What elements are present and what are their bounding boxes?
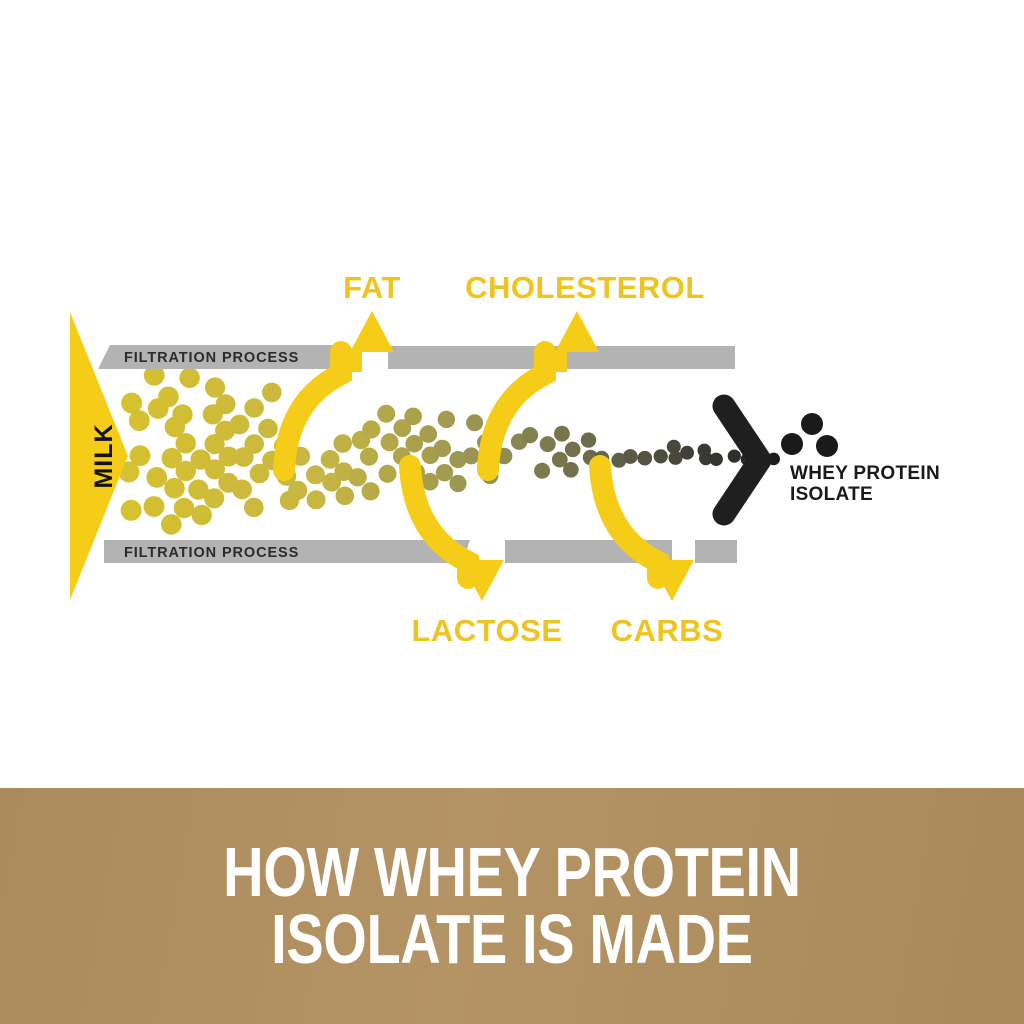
particle-dot	[360, 448, 378, 466]
particle-dot	[581, 432, 596, 447]
output-dot	[801, 413, 823, 435]
lactose-label: LACTOSE	[411, 613, 562, 648]
particle-dot	[710, 453, 723, 466]
particle-dot	[534, 463, 550, 479]
particle-dot	[654, 449, 668, 463]
cholesterol-label: CHOLESTEROL	[465, 270, 705, 305]
particle-dot	[449, 475, 466, 492]
particle-dot	[174, 498, 194, 518]
filtration-bar-top-label: FILTRATION PROCESS	[124, 350, 299, 366]
particle-dot	[563, 462, 579, 478]
particle-dot	[404, 408, 422, 426]
filtration-bar-top: FILTRATION PROCESS	[98, 345, 735, 369]
particle-dot	[638, 451, 653, 466]
particle-dot	[434, 440, 451, 457]
banner-title-line-2: ISOLATE IS MADE	[271, 906, 752, 973]
particle-dot	[362, 420, 380, 438]
particle-dot	[230, 415, 250, 435]
diagram-area: MILK FILTRATION PROCESS FILTRATION PROCE…	[0, 0, 1024, 788]
particle-dot	[192, 505, 212, 525]
particle-dot	[129, 410, 150, 431]
filtration-bar-bottom-segment-3	[695, 540, 737, 563]
particle-dot	[438, 411, 455, 428]
process-flow-diagram: MILK FILTRATION PROCESS FILTRATION PROCE…	[0, 0, 1024, 788]
particle-stream	[118, 365, 780, 535]
particle-dot	[121, 500, 142, 521]
particle-dot	[172, 404, 192, 424]
output-dot	[816, 435, 838, 457]
carbs-label: CARBS	[611, 613, 724, 648]
particle-dot	[419, 425, 437, 443]
particle-dot	[381, 433, 399, 451]
fat-arrow-head	[350, 311, 394, 352]
particle-dot	[146, 467, 167, 488]
particle-dot	[436, 464, 453, 481]
particle-dot	[232, 480, 252, 500]
particle-dot	[463, 447, 480, 464]
cholesterol-arrow-head	[555, 311, 599, 352]
particle-dot	[377, 405, 395, 423]
particle-dot	[540, 436, 556, 452]
infographic-page: MILK FILTRATION PROCESS FILTRATION PROCE…	[0, 0, 1024, 1024]
filtration-bar-bottom-label: FILTRATION PROCESS	[124, 545, 299, 561]
particle-dot	[623, 449, 638, 464]
whey-protein-label-line1: WHEY PROTEIN	[790, 463, 940, 484]
particle-dot	[204, 488, 224, 508]
milk-label: MILK	[90, 423, 118, 488]
filtration-bar-top-segment-3	[602, 346, 735, 369]
particle-dot	[348, 468, 366, 486]
particle-dot	[554, 426, 570, 442]
particle-dot	[144, 496, 165, 517]
particle-dot	[244, 498, 264, 518]
particle-dot	[333, 434, 352, 453]
particle-dot	[728, 450, 741, 463]
particle-dot	[216, 394, 236, 414]
particle-dot	[466, 414, 483, 431]
fat-label: FAT	[343, 270, 401, 305]
particle-dot	[164, 478, 185, 499]
particle-dot	[244, 398, 264, 418]
title-banner: HOW WHEY PROTEIN ISOLATE IS MADE	[0, 788, 1024, 1024]
particle-dot	[179, 368, 199, 388]
particle-dot	[288, 481, 307, 500]
particle-dot	[244, 434, 264, 454]
output-dot	[781, 433, 803, 455]
particle-dot	[176, 433, 196, 453]
particle-dot	[205, 377, 225, 397]
banner-title-line-1: HOW WHEY PROTEIN	[223, 839, 800, 906]
particle-dot	[306, 465, 325, 484]
particle-dot	[130, 445, 151, 466]
particle-dot	[680, 446, 694, 460]
particle-dot	[161, 514, 182, 535]
particle-dot	[307, 490, 326, 509]
whey-protein-label-line2: ISOLATE	[790, 484, 873, 505]
particle-dot	[379, 465, 397, 483]
particle-dot	[522, 427, 538, 443]
particle-dot	[565, 442, 581, 458]
particle-dot	[258, 419, 278, 439]
particle-dot	[262, 383, 282, 403]
output-dots	[781, 413, 838, 457]
output-label-group: WHEY PROTEIN ISOLATE	[790, 463, 940, 505]
particle-dot	[362, 482, 380, 500]
cholesterol-arrow-curve	[488, 352, 545, 470]
particle-dot	[336, 487, 355, 506]
particle-dot	[158, 387, 179, 408]
